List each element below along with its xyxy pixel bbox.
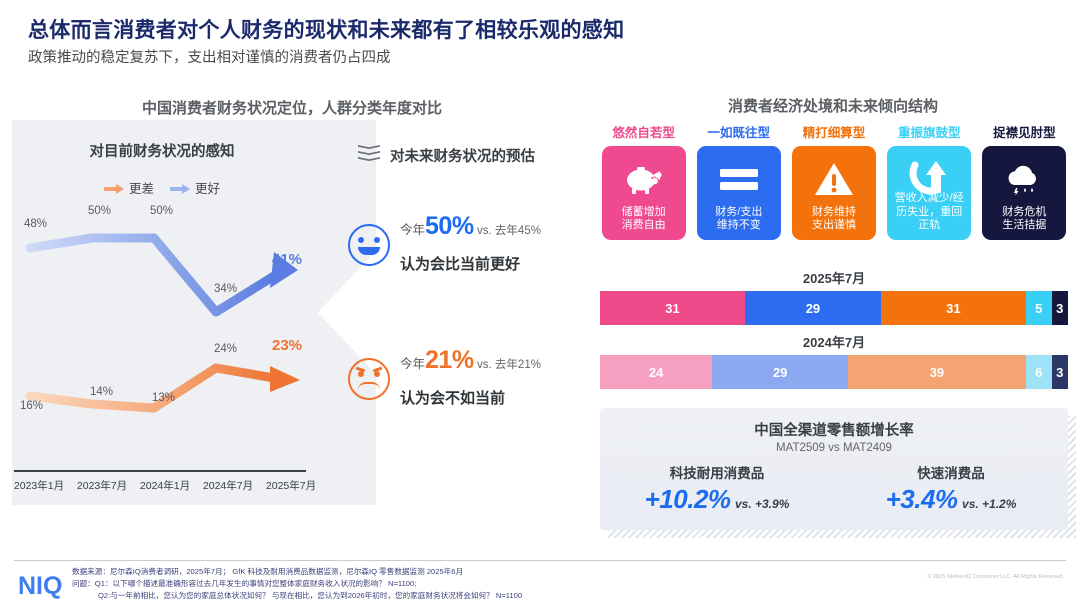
chevrons-down-icon [358, 144, 380, 166]
bar-seg-struggling: 3 [1052, 355, 1068, 389]
bar-seg-steady: 29 [712, 355, 848, 389]
persona-cards: 悠然自若型 储蓄增加 消费自由 一如既往型 财务/支出 维持不变 精打细算型 [600, 122, 1068, 240]
persona-card-carefree: 悠然自若型 储蓄增加 消费自由 [600, 122, 687, 240]
stat-row-worse: 今年21% vs. 去年21% 认为会不如当前 [348, 342, 598, 408]
niq-logo: NIQ [18, 572, 62, 601]
legend-label-better: 更好 [195, 178, 220, 197]
footer-line-1: 数据来源：尼尔森IQ消费者调研，2025年7月； GfK 科技及耐用消费品数据监… [72, 566, 692, 578]
bar-seg-carefree: 24 [600, 355, 712, 389]
bar-seg-steady: 29 [745, 291, 881, 325]
stacked-bar-2024: 2024年7月 24 29 39 6 3 [600, 332, 1068, 389]
arrow-icon [104, 183, 124, 193]
bar-seg-rebound: 6 [1026, 355, 1052, 389]
persona-label: 精打细算型 [803, 122, 866, 141]
bar-seg-rebound: 5 [1026, 291, 1052, 325]
growth-subtitle: MAT2509 vs MAT2409 [600, 442, 1068, 454]
persona-tile: 财务/支出 维持不变 [697, 146, 781, 240]
point-label-worse-3: 13% [152, 392, 175, 404]
bar-row: 31 29 31 5 3 [600, 291, 1068, 325]
growth-col-fmcg: 快速消费品 +3.4% vs. +1.2% [834, 462, 1068, 515]
stat-vs-better: vs. 去年45% [477, 225, 541, 237]
page-subtitle: 政策推动的稳定复苏下，支出相对谨慎的消费者仍占四成 [28, 50, 1048, 67]
line-chart-title: 对目前财务状况的感知 [12, 140, 312, 161]
future-outlook-heading-label: 对未来财务状况的预估 [390, 145, 535, 166]
x-axis-labels: 2023年1月 2023年7月 2024年1月 2024年7月 2025年7月 [10, 478, 320, 493]
line-chart-svg [12, 200, 364, 472]
x-axis-line [14, 470, 306, 472]
stat-value-worse: 21% [425, 346, 474, 374]
persona-label: 捉襟见肘型 [993, 122, 1056, 141]
bar-seg-struggling: 3 [1052, 291, 1068, 325]
persona-tile: 财务危机 生活拮据 [982, 146, 1066, 240]
persona-card-steady: 一如既往型 财务/支出 维持不变 [695, 122, 782, 240]
bar-label-2024: 2024年7月 [600, 332, 1068, 351]
warning-triangle-icon [792, 156, 876, 202]
x-tick-5: 2025年7月 [262, 478, 320, 493]
bar-label-2025: 2025年7月 [600, 268, 1068, 287]
x-tick-1: 2023年1月 [10, 478, 68, 493]
x-tick-2: 2023年7月 [73, 478, 131, 493]
stat-prefix-better: 今年 [400, 223, 425, 237]
footer-source: 数据来源：尼尔森IQ消费者调研，2025年7月； GfK 科技及耐用消费品数据监… [72, 566, 692, 601]
point-label-better-2: 50% [88, 205, 111, 217]
line-chart-legend: 更差 更好 [12, 178, 312, 197]
footer-line-3: Q2:与一年前相比，您认为您的家庭总体状况如何？ 与现在相比，您认为到2026年… [72, 590, 692, 602]
growth-col-tech: 科技耐用消费品 +10.2% vs. +3.9% [600, 462, 834, 515]
persona-card-struggling: 捉襟见肘型 财务危机 生活拮据 [981, 122, 1068, 240]
bar-seg-frugal: 31 [881, 291, 1026, 325]
angry-face-icon [348, 358, 390, 400]
point-label-worse-4: 24% [214, 343, 237, 355]
stat-row-better: 今年50% vs. 去年45% 认为会比当前更好 [348, 208, 598, 274]
footer-divider [14, 560, 1066, 561]
persona-tile: 财务维持 支出谨慎 [792, 146, 876, 240]
bar-row: 24 29 39 6 3 [600, 355, 1068, 389]
legend-label-worse: 更差 [129, 178, 154, 197]
persona-desc: 财务危机 生活拮据 [998, 206, 1050, 241]
stat-value-better: 50% [425, 212, 474, 240]
point-label-worse-2: 14% [90, 386, 113, 398]
growth-value: +3.4% [886, 484, 958, 514]
point-label-better-1: 48% [24, 218, 47, 230]
smile-face-icon [348, 224, 390, 266]
growth-title: 中国全渠道零售额增长率 [600, 408, 1068, 440]
header: 总体而言消费者对个人财务的现状和未来都有了相较乐观的感知 政策推动的稳定复苏下，… [28, 18, 1048, 68]
growth-category: 快速消费品 [834, 462, 1068, 482]
stat-prefix-worse: 今年 [400, 357, 425, 371]
point-label-better-4: 34% [214, 283, 237, 295]
x-tick-4: 2024年7月 [199, 478, 257, 493]
persona-desc: 财务/支出 维持不变 [711, 206, 766, 241]
retail-growth-box: 中国全渠道零售额增长率 MAT2509 vs MAT2409 科技耐用消费品 +… [600, 408, 1068, 530]
stat-caption-better: 认为会比当前更好 [400, 253, 541, 274]
persona-tile: 储蓄增加 消费自由 [602, 146, 686, 240]
right-section-title: 消费者经济处境和未来倾向结构 [598, 95, 1068, 116]
stacked-bar-2025: 2025年7月 31 29 31 5 3 [600, 268, 1068, 325]
legend-item-better: 更好 [170, 178, 220, 197]
arrow-icon [170, 183, 190, 193]
persona-label: 一如既往型 [708, 122, 771, 141]
bar-seg-frugal: 39 [848, 355, 1026, 389]
future-outlook-block: 对未来财务状况的预估 今年50% vs. 去年45% 认为会比当前更好 今年21… [340, 130, 590, 500]
point-label-better-3: 50% [150, 205, 173, 217]
bar-seg-carefree: 31 [600, 291, 745, 325]
growth-compare: vs. +1.2% [962, 497, 1016, 511]
equals-icon [697, 156, 781, 202]
line-chart [12, 200, 364, 472]
storm-cloud-icon [982, 156, 1066, 202]
persona-desc: 营收入减少/经 历失业，重回 正轨 [891, 192, 968, 240]
point-label-worse-5: 23% [272, 337, 302, 354]
stat-vs-worse: vs. 去年21% [477, 359, 541, 371]
future-outlook-heading: 对未来财务状况的预估 [358, 144, 535, 166]
persona-desc: 储蓄增加 消费自由 [618, 206, 670, 241]
point-label-worse-1: 16% [20, 400, 43, 412]
growth-category: 科技耐用消费品 [600, 462, 834, 482]
persona-card-rebound: 重振旗鼓型 营收入减少/经 历失业，重回 正轨 [886, 122, 973, 240]
persona-desc: 财务维持 支出谨慎 [808, 206, 860, 241]
persona-label: 重振旗鼓型 [898, 122, 961, 141]
persona-label: 悠然自若型 [612, 122, 675, 141]
growth-compare: vs. +3.9% [735, 497, 789, 511]
stat-caption-worse: 认为会不如当前 [400, 387, 541, 408]
growth-value: +10.2% [645, 484, 731, 514]
footer-line-2: 问题：Q1：以下哪个描述最准确形容过去几年发生的事情对您整体家庭财务收入状况的影… [72, 578, 692, 590]
legend-item-worse: 更差 [104, 178, 154, 197]
copyright-text: © 2025 NielsenIQ Consumer LLC. All Right… [927, 574, 1064, 580]
infographic-page: 总体而言消费者对个人财务的现状和未来都有了相较乐观的感知 政策推动的稳定复苏下，… [0, 0, 1080, 608]
left-section-title: 中国消费者财务状况定位，人群分类年度对比 [12, 97, 572, 118]
x-tick-3: 2024年1月 [136, 478, 194, 493]
point-label-better-5: 41% [272, 251, 302, 268]
persona-tile: 营收入减少/经 历失业，重回 正轨 [887, 146, 971, 240]
persona-card-frugal: 精打细算型 财务维持 支出谨慎 [790, 122, 877, 240]
page-title: 总体而言消费者对个人财务的现状和未来都有了相较乐观的感知 [28, 18, 1048, 43]
piggy-bank-icon [602, 156, 686, 202]
